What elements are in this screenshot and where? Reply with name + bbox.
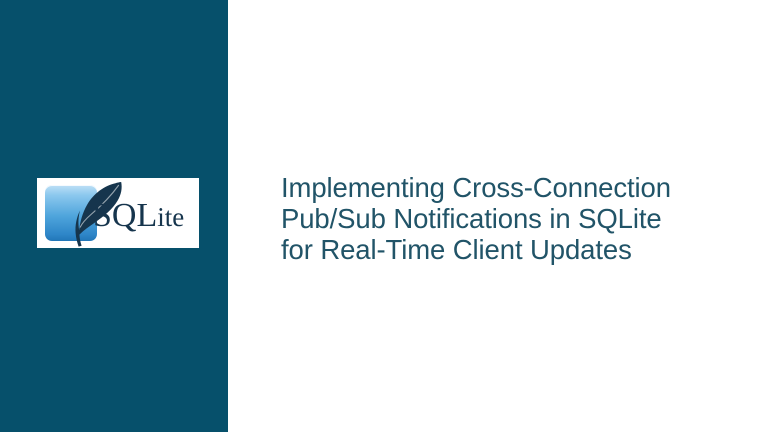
title-slide: SQLite Implementing Cross-Connection Pub… xyxy=(0,0,768,432)
sqlite-logo-card: SQLite xyxy=(37,178,199,248)
sqlite-logo: SQLite xyxy=(37,178,199,248)
title-line-1: Implementing Cross-Connection xyxy=(281,172,741,203)
page-title: Implementing Cross-Connection Pub/Sub No… xyxy=(281,172,741,265)
sqlite-wordmark-caps: SQL xyxy=(93,197,157,234)
title-line-2: Pub/Sub Notifications in SQLite xyxy=(281,203,741,234)
sqlite-wordmark-rest: ite xyxy=(157,202,184,232)
title-line-3: for Real-Time Client Updates xyxy=(281,234,741,265)
sqlite-wordmark: SQLite xyxy=(93,194,199,242)
sidebar-panel: SQLite xyxy=(0,0,228,432)
